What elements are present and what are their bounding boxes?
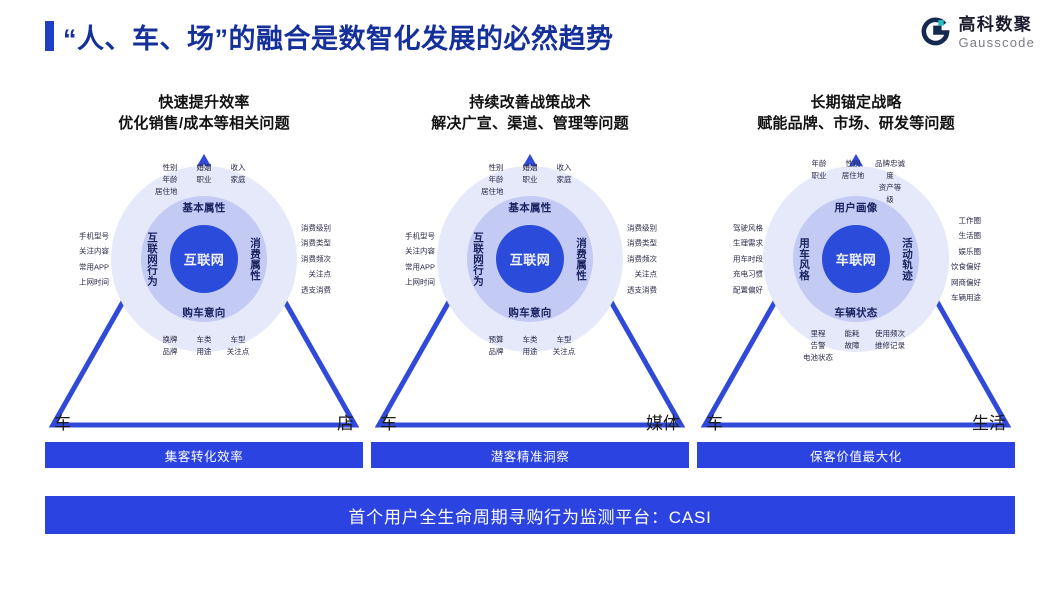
satellite-2-bottom: 预算车类车型 品牌用途关注点 (479, 334, 581, 358)
column-1: 快速提升效率 优化销售/成本等相关问题 人 车 店 互联网 基本属性 购车意向 … (45, 92, 363, 482)
diagram-columns: 快速提升效率 优化销售/成本等相关问题 人 车 店 互联网 基本属性 购车意向 … (0, 92, 1057, 482)
satellite-1-top: 性别婚姻收入 年龄职业家庭 居住地 (153, 162, 255, 198)
column-3-triangle-diagram: 人 车 生活 车联网 用户画像 车辆状态 用车风格 活动轨迹 年龄性别品牌忠诚 … (697, 147, 1015, 437)
satellite-3-left: 驾驶风格 生理需求 用车时段 充电习惯 配置偏好 (733, 221, 763, 298)
triangle-2-corner-right-label: 媒体 (646, 409, 680, 434)
page-title: “人、车、场”的融合是数智化发展的必然趋势 (63, 17, 614, 56)
column-2: 持续改善战策战术 解决广宣、渠道、管理等问题 人 车 媒体 互联网 基本属性 购… (371, 92, 689, 482)
triangle-1-corner-left-label: 车 (54, 409, 71, 434)
satellite-3-right: 工作圈 生活圈 娱乐圈 饮食偏好 网商偏好 车辆用途 (951, 213, 981, 305)
satellite-3-bottom: 里程能耗使用频次 告警故障维修记录 电池状态 (801, 328, 911, 364)
logo-text-en: Gausscode (958, 36, 1035, 49)
rings-2: 互联网 基本属性 购车意向 互联网行为 消费属性 性别婚姻收入 年龄职业家庭 居… (415, 144, 645, 374)
column-1-heading-line1: 快速提升效率 (45, 92, 363, 113)
column-1-heading: 快速提升效率 优化销售/成本等相关问题 (45, 92, 363, 135)
triangle-1-corner-right-label: 店 (337, 409, 354, 434)
ring-3-core-label: 车联网 (836, 250, 877, 269)
column-1-bar: 集客转化效率 (45, 442, 363, 468)
column-1-heading-line2: 优化销售/成本等相关问题 (45, 113, 363, 134)
column-2-heading: 持续改善战策战术 解决广宣、渠道、管理等问题 (371, 92, 689, 135)
column-3-heading-line2: 赋能品牌、市场、研发等问题 (697, 113, 1015, 134)
ring-3-caption-right: 活动轨迹 (900, 237, 915, 280)
ring-1-caption-bottom: 购车意向 (182, 305, 225, 320)
column-3-bar: 保客价值最大化 (697, 442, 1015, 468)
ring-3-caption-bottom: 车辆状态 (834, 305, 877, 320)
column-2-bar: 潜客精准洞察 (371, 442, 689, 468)
ring-2-core-label: 互联网 (510, 250, 551, 269)
column-2-heading-line1: 持续改善战策战术 (371, 92, 689, 113)
triangle-3-corner-left-label: 车 (706, 409, 723, 434)
column-2-heading-line2: 解决广宣、渠道、管理等问题 (371, 113, 689, 134)
satellite-1-bottom: 换牌车类车型 品牌用途关注点 (153, 334, 255, 358)
satellite-1-left: 手机型号 关注内容 常用APP 上网时间 (79, 228, 109, 290)
column-3: 长期锚定战略 赋能品牌、市场、研发等问题 人 车 生活 车联网 用户画像 车辆状… (697, 92, 1015, 482)
page-header: “人、车、场”的融合是数智化发展的必然趋势 高科数聚 Gausscode (0, 0, 1057, 70)
satellite-1-right: 消费级别 消费类型 消费频次 关注点 透支消费 (301, 221, 331, 298)
ring-2-caption-top: 基本属性 (508, 200, 551, 215)
ring-1-caption-left: 互联网行为 (145, 232, 160, 286)
column-3-heading-line1: 长期锚定战略 (697, 92, 1015, 113)
rings-1: 互联网 基本属性 购车意向 互联网行为 消费属性 性别婚姻收入 年龄职业家庭 居… (89, 144, 319, 374)
column-1-triangle-diagram: 人 车 店 互联网 基本属性 购车意向 互联网行为 消费属性 性别婚姻收入 年龄… (45, 147, 363, 437)
title-accent-bar (45, 21, 54, 51)
ring-2-caption-bottom: 购车意向 (508, 305, 551, 320)
ring-1-caption-top: 基本属性 (182, 200, 225, 215)
logo-text-cn: 高科数聚 (958, 16, 1035, 33)
triangle-2-corner-left-label: 车 (380, 409, 397, 434)
footer-bar: 首个用户全生命周期寻购行为监测平台：CASI (45, 496, 1015, 534)
ring-1-core-label: 互联网 (184, 250, 225, 269)
column-3-heading: 长期锚定战略 赋能品牌、市场、研发等问题 (697, 92, 1015, 135)
satellite-2-left: 手机型号 关注内容 常用APP 上网时间 (405, 228, 435, 290)
satellite-2-right: 消费级别 消费类型 消费频次 关注点 透支消费 (627, 221, 657, 298)
ring-3-caption-left: 用车风格 (797, 237, 812, 280)
ring-2-caption-left: 互联网行为 (471, 232, 486, 286)
brand-logo: 高科数聚 Gausscode (920, 16, 1035, 49)
ring-2-caption-right: 消费属性 (574, 237, 589, 280)
gausscode-logo-icon (920, 17, 951, 48)
satellite-2-top: 性别婚姻收入 年龄职业家庭 居住地 (479, 162, 581, 198)
satellite-3-top: 年龄性别品牌忠诚 职业居住地度 资产等 级 (802, 158, 910, 206)
ring-1-caption-right: 消费属性 (248, 237, 263, 280)
triangle-3-corner-right-label: 生活 (972, 409, 1006, 434)
column-2-triangle-diagram: 人 车 媒体 互联网 基本属性 购车意向 互联网行为 消费属性 性别婚姻收入 年… (371, 147, 689, 437)
rings-3: 车联网 用户画像 车辆状态 用车风格 活动轨迹 年龄性别品牌忠诚 职业居住地度 … (741, 144, 971, 374)
